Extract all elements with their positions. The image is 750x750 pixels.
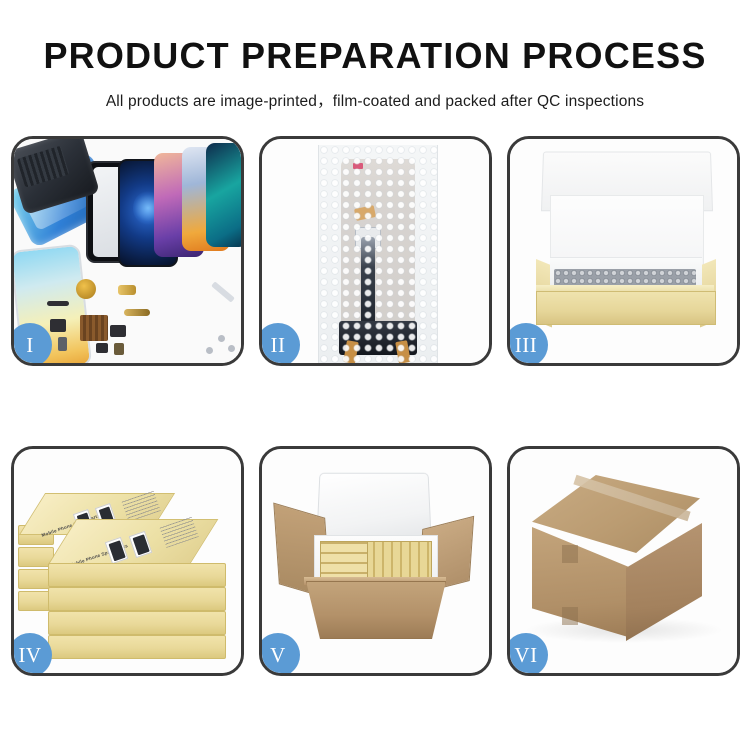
process-steps-grid: I II bbox=[11, 136, 739, 676]
power-flex-icon bbox=[124, 309, 150, 316]
speaker-module-icon bbox=[114, 343, 124, 355]
step-2-photo bbox=[262, 139, 489, 363]
box-front-panel-icon bbox=[536, 291, 716, 325]
flex-cable-icon bbox=[50, 319, 66, 332]
box-stack-icon: Mobile Phone Spare Parts Mobile Phone Sp… bbox=[18, 467, 234, 663]
earpiece-mesh-icon bbox=[47, 301, 69, 306]
carton-body-icon bbox=[306, 581, 446, 639]
step-6-photo bbox=[510, 449, 737, 673]
step-3-photo bbox=[510, 139, 737, 363]
step-badge-2: II bbox=[259, 323, 300, 366]
process-step-6: VI bbox=[507, 446, 740, 676]
box-slab bbox=[48, 563, 226, 587]
bubble-texture-icon bbox=[319, 145, 437, 363]
process-step-4: Mobile Phone Spare Parts Mobile Phone Sp… bbox=[11, 446, 244, 676]
carton-seam-icon bbox=[562, 545, 578, 563]
step-1-photo bbox=[14, 139, 241, 363]
bubble-wrap-bag-icon bbox=[318, 145, 438, 363]
step-5-photo bbox=[262, 449, 489, 673]
screw-icon bbox=[228, 345, 235, 352]
step-badge-1: I bbox=[11, 323, 52, 366]
vibration-motor-icon bbox=[76, 279, 96, 299]
button-flex-icon bbox=[110, 325, 126, 337]
step-badge-6: VI bbox=[507, 633, 548, 676]
carton-seam-icon bbox=[562, 607, 578, 625]
product-preparation-page: PRODUCT PREPARATION PROCESS All products… bbox=[0, 0, 750, 750]
camera-module-icon bbox=[96, 343, 108, 353]
small-connector-icon bbox=[58, 337, 67, 351]
screw-icon bbox=[206, 347, 213, 354]
process-step-3: III bbox=[507, 136, 740, 366]
page-subtitle: All products are image-printed，film-coat… bbox=[0, 77, 750, 111]
process-step-2: II bbox=[259, 136, 492, 366]
step-badge-3: III bbox=[507, 323, 548, 366]
step-badge-5: V bbox=[259, 633, 300, 676]
process-step-1: I bbox=[11, 136, 244, 366]
box-slab bbox=[48, 587, 226, 611]
page-title: PRODUCT PREPARATION PROCESS bbox=[0, 0, 750, 77]
screw-icon bbox=[218, 335, 225, 342]
foam-lid-icon bbox=[316, 473, 431, 537]
page-header: PRODUCT PREPARATION PROCESS All products… bbox=[0, 0, 750, 111]
box-slab bbox=[48, 635, 226, 659]
process-step-5: V bbox=[259, 446, 492, 676]
gold-contact-flex-icon bbox=[118, 285, 136, 295]
connector-grid-icon bbox=[80, 315, 108, 341]
step-badge-4: IV bbox=[11, 633, 52, 676]
box-slab bbox=[48, 611, 226, 635]
phone-teal-gradient-icon bbox=[206, 143, 241, 247]
step-4-photo: Mobile Phone Spare Parts Mobile Phone Sp… bbox=[14, 449, 241, 673]
